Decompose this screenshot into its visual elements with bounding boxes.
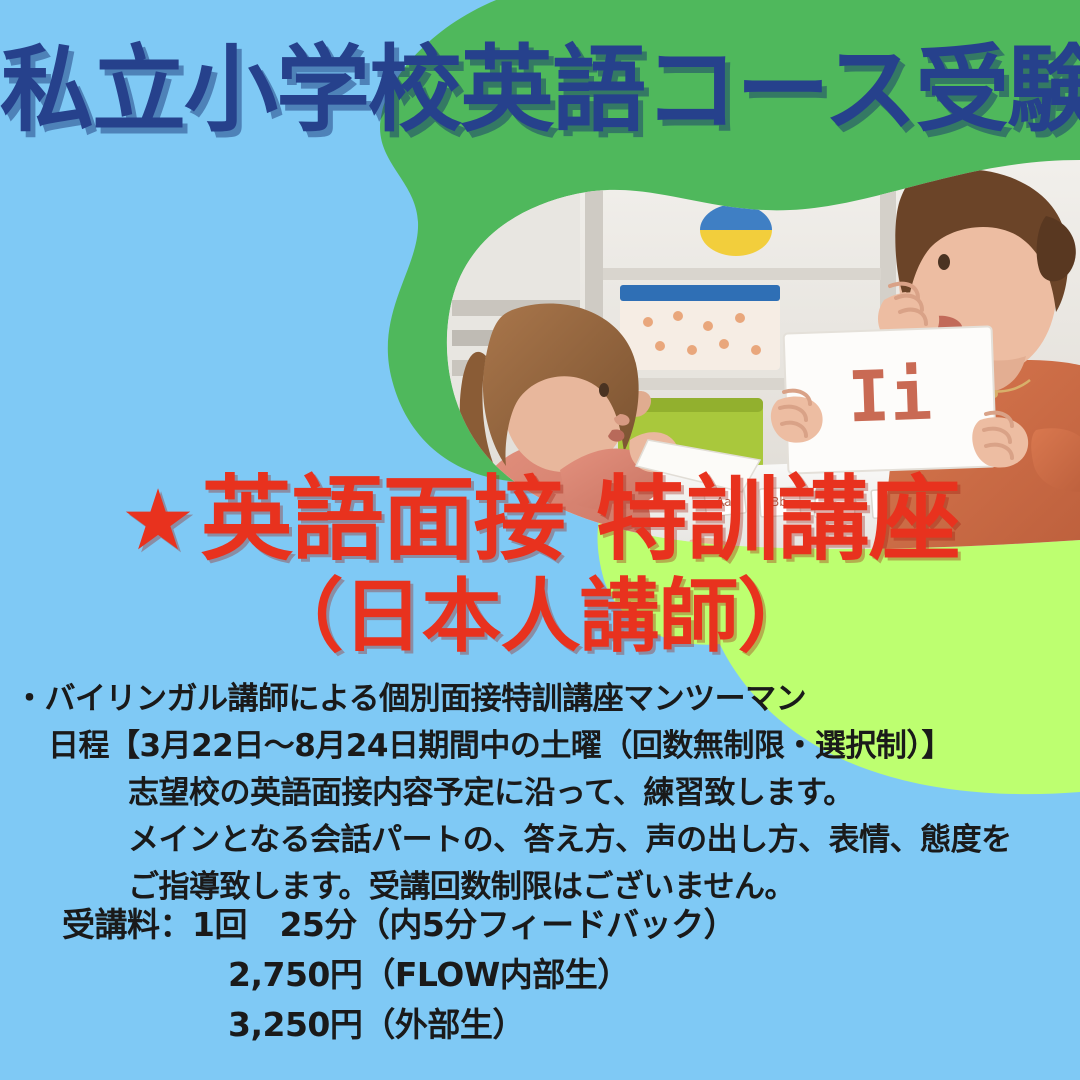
price-line-1: 受講料：1回 25分（内5分フィードバック） <box>0 900 1080 950</box>
headline-block: ★英語面接 特訓講座 （日本人講師） <box>0 470 1080 661</box>
price-line-2: 2,750円（FLOW内部生） <box>0 950 1080 1000</box>
flashcard: Ii <box>784 326 997 473</box>
pricing-block: 受講料：1回 25分（内5分フィードバック） 2,750円（FLOW内部生） 3… <box>0 900 1080 1050</box>
headline-main: ★英語面接 特訓講座 <box>0 470 1080 569</box>
description-line-4: メインとなる会話パートの、答え方、声の出し方、表情、態度を <box>0 817 1080 864</box>
poster-canvas: AaBb CcDd <box>0 0 1080 1080</box>
star-icon: ★ <box>120 471 194 569</box>
description-line-2: 日程【3月22日〜8月24日期間中の土曜（回数無制限・選択制）】 <box>0 723 1080 770</box>
headline-sub: （日本人講師） <box>0 573 1080 661</box>
description-line-3: 志望校の英語面接内容予定に沿って、練習致します。 <box>0 770 1080 817</box>
description-line-1: ・バイリンガル講師による個別面接特訓講座マンツーマン <box>0 676 1080 723</box>
description-block: ・バイリンガル講師による個別面接特訓講座マンツーマン 日程【3月22日〜8月24… <box>0 676 1080 911</box>
flashcard-letter: Ii <box>846 354 933 439</box>
price-line-3: 3,250円（外部生） <box>0 1000 1080 1050</box>
headline-text: 英語面接 特訓講座 <box>201 466 960 573</box>
page-title: 私立小学校英語コース受験 <box>0 42 1080 141</box>
